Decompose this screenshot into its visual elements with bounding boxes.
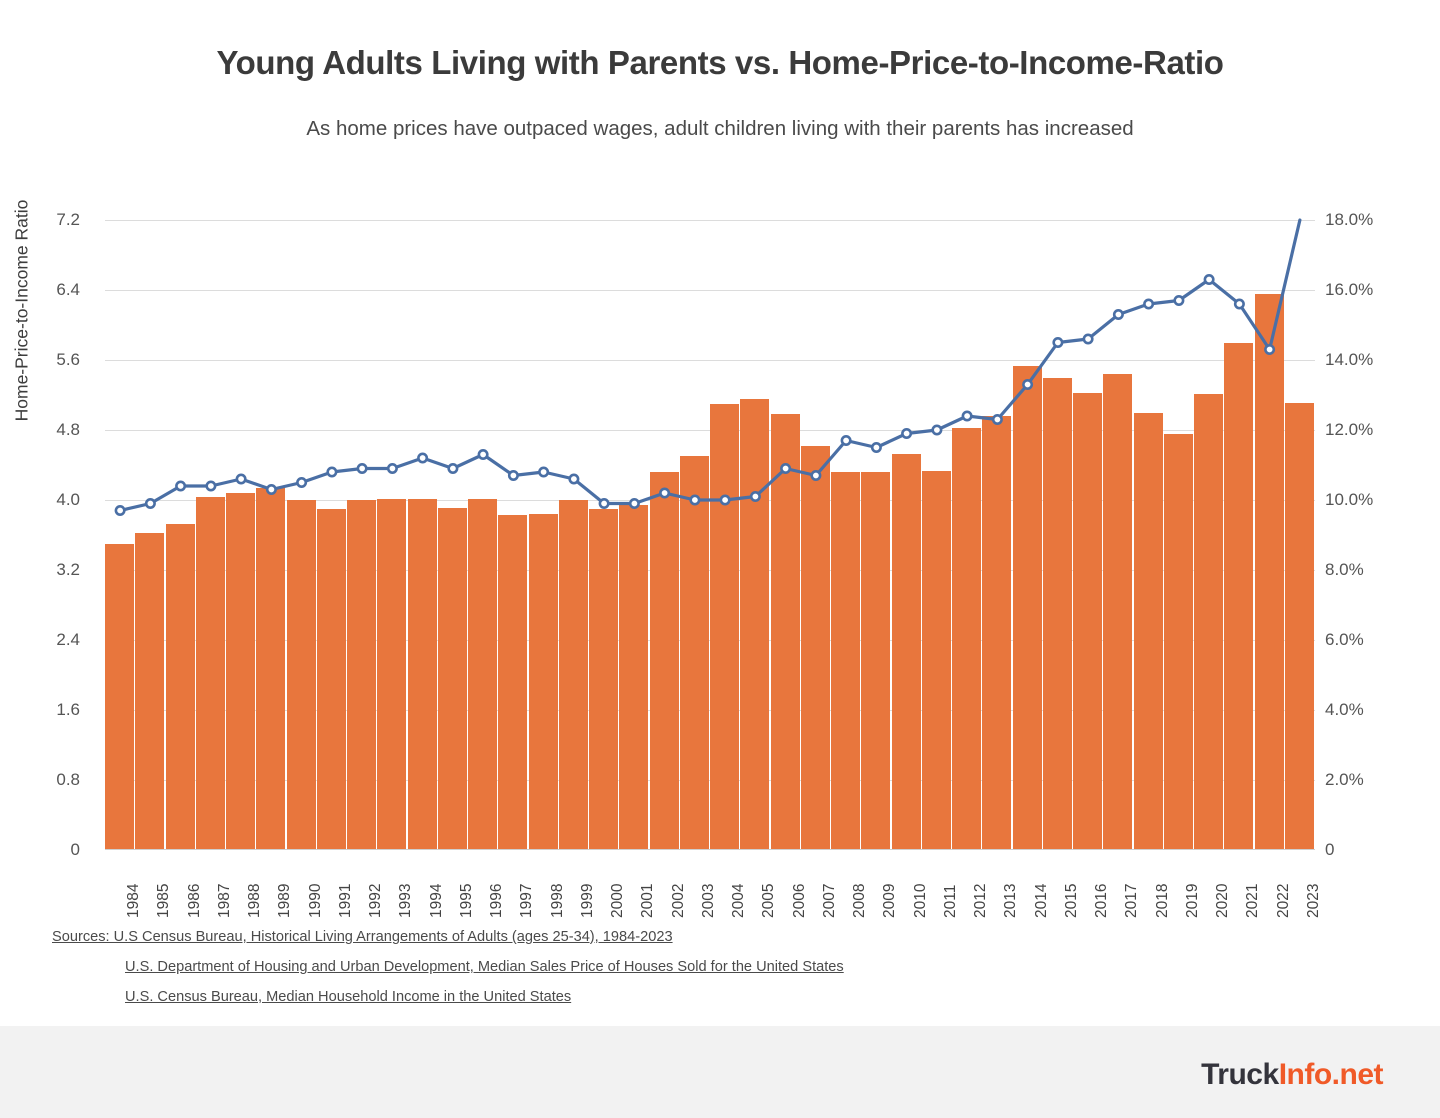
x-axis-tick-label: 1990: [308, 884, 324, 918]
y-axis-left-tick-label: 2.4: [0, 631, 80, 648]
line-marker: [388, 464, 396, 472]
line-marker: [721, 496, 729, 504]
x-axis-tick-label: 2022: [1276, 884, 1292, 918]
line-marker: [993, 415, 1001, 423]
y-axis-right-tick-label: 18.0%: [1325, 211, 1415, 228]
y-axis-right-tick-label: 4.0%: [1325, 701, 1415, 718]
x-axis-tick-label: 1999: [580, 884, 596, 918]
line-marker: [479, 450, 487, 458]
line-marker: [751, 492, 759, 500]
x-axis-tick-label: 2013: [1003, 884, 1019, 918]
line-marker: [146, 499, 154, 507]
x-axis-tick-label: 2006: [792, 884, 808, 918]
y-axis-right-tick-label: 0: [1325, 841, 1415, 858]
x-axis-tick-label: 2017: [1124, 884, 1140, 918]
source-line-1: Sources: U.S Census Bureau, Historical L…: [52, 929, 673, 945]
chart-plot-area: [105, 220, 1315, 850]
line-marker: [509, 471, 517, 479]
x-axis-tick-label: 1989: [277, 884, 293, 918]
line-marker: [902, 429, 910, 437]
x-axis-tick-label: 1995: [459, 884, 475, 918]
line-marker: [267, 485, 275, 493]
x-axis-tick-label: 2008: [852, 884, 868, 918]
x-axis-tick-label: 2009: [882, 884, 898, 918]
x-axis-tick-label: 2005: [761, 884, 777, 918]
line-marker: [449, 464, 457, 472]
line-marker: [237, 475, 245, 483]
x-axis-tick-label: 1993: [398, 884, 414, 918]
sources-block: Sources: U.S Census Bureau, Historical L…: [52, 928, 1252, 1018]
y-axis-right-tick-label: 14.0%: [1325, 351, 1415, 368]
line-series: [105, 220, 1315, 850]
line-marker: [207, 482, 215, 490]
x-axis-tick-label: 2015: [1064, 884, 1080, 918]
y-axis-left-tick-label: 3.2: [0, 561, 80, 578]
x-axis-tick-label: 1991: [338, 884, 354, 918]
x-axis-tick-label: 1996: [489, 884, 505, 918]
logo-text-dark: Truck: [1201, 1058, 1279, 1091]
line-marker: [1175, 296, 1183, 304]
line-marker: [176, 482, 184, 490]
y-axis-right-tick-label: 6.0%: [1325, 631, 1415, 648]
line-marker: [1235, 300, 1243, 308]
x-axis-tick-label: 2001: [640, 884, 656, 918]
y-axis-left-tick-label: 0.8: [0, 771, 80, 788]
y-axis-left-tick-label: 0: [0, 841, 80, 858]
x-axis-tick-label: 2000: [610, 884, 626, 918]
x-axis-tick-label: 2023: [1306, 884, 1322, 918]
line-marker: [297, 478, 305, 486]
line-marker: [660, 489, 668, 497]
line-marker: [1084, 335, 1092, 343]
x-axis-tick-label: 2021: [1245, 884, 1261, 918]
line-marker: [872, 443, 880, 451]
line-marker: [328, 468, 336, 476]
x-axis-tick-label: 2011: [943, 885, 959, 918]
line-marker: [842, 436, 850, 444]
chart-subtitle: As home prices have outpaced wages, adul…: [0, 117, 1440, 141]
line-marker: [1054, 338, 1062, 346]
line-marker: [358, 464, 366, 472]
line-marker: [418, 454, 426, 462]
x-axis-tick-label: 1984: [126, 884, 142, 918]
x-axis-tick-label: 1992: [368, 884, 384, 918]
line-marker: [570, 475, 578, 483]
line-marker: [630, 499, 638, 507]
x-axis-tick-label: 1985: [156, 884, 172, 918]
line-marker: [116, 506, 124, 514]
x-axis-tick-label: 2003: [701, 884, 717, 918]
x-axis-tick-label: 2012: [973, 884, 989, 918]
site-logo: TruckInfo.net: [1201, 1058, 1383, 1092]
x-axis-tick-label: 1998: [550, 884, 566, 918]
y-axis-right-tick-label: 12.0%: [1325, 421, 1415, 438]
page-title: Young Adults Living with Parents vs. Hom…: [0, 44, 1440, 82]
line-marker: [1023, 380, 1031, 388]
x-axis-tick-label: 1997: [519, 884, 535, 918]
x-axis-tick-label: 2007: [822, 884, 838, 918]
line-marker: [963, 412, 971, 420]
x-axis-tick-label: 1986: [187, 884, 203, 918]
line-marker: [600, 499, 608, 507]
x-axis-tick-label: 1994: [429, 884, 445, 918]
line-marker: [691, 496, 699, 504]
x-axis-tick-label: 2002: [671, 884, 687, 918]
x-axis-tick-label: 2018: [1155, 884, 1171, 918]
line-marker: [933, 426, 941, 434]
line-marker: [1114, 310, 1122, 318]
y-axis-left-tick-label: 1.6: [0, 701, 80, 718]
x-axis-tick-label: 1988: [247, 884, 263, 918]
line-marker: [781, 464, 789, 472]
y-axis-right-tick-label: 16.0%: [1325, 281, 1415, 298]
x-axis-tick-label: 1987: [217, 884, 233, 918]
footer-bar: TruckInfo.net: [0, 1026, 1440, 1118]
line-marker: [812, 471, 820, 479]
x-axis-tick-label: 2004: [731, 884, 747, 918]
y-axis-right-tick-label: 2.0%: [1325, 771, 1415, 788]
x-axis-tick-label: 2020: [1215, 884, 1231, 918]
line-marker: [1144, 300, 1152, 308]
logo-text-accent: Info.net: [1279, 1058, 1383, 1091]
source-line-2: U.S. Department of Housing and Urban Dev…: [125, 959, 844, 975]
line-marker: [1205, 275, 1213, 283]
axis-baseline: [105, 849, 1315, 850]
x-axis-tick-label: 2019: [1185, 884, 1201, 918]
source-line-3: U.S. Census Bureau, Median Household Inc…: [125, 989, 571, 1005]
y-axis-right-tick-label: 10.0%: [1325, 491, 1415, 508]
y-axis-right-tick-label: 8.0%: [1325, 561, 1415, 578]
line-marker: [539, 468, 547, 476]
x-axis-tick-label: 2014: [1034, 884, 1050, 918]
line-marker: [1265, 345, 1273, 353]
line-path: [120, 220, 1300, 511]
x-axis-tick-label: 2016: [1094, 884, 1110, 918]
x-axis-tick-label: 2010: [913, 884, 929, 918]
y-axis-left-title: Home-Price-to-Income Ratio: [12, 111, 33, 511]
